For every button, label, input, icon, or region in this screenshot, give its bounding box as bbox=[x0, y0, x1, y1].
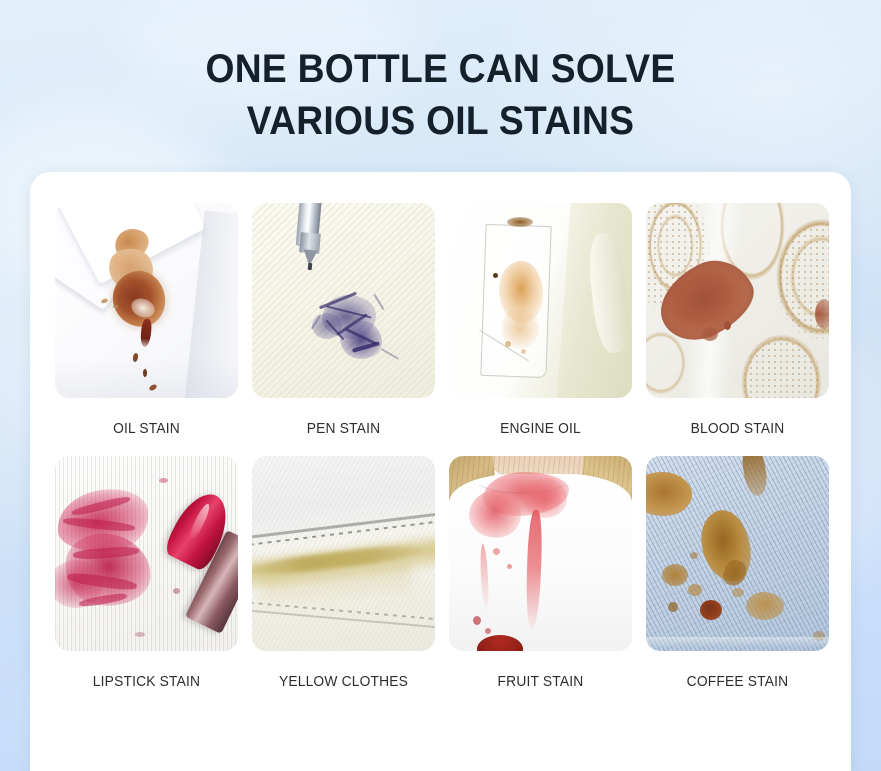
stain-image-blood-stain bbox=[646, 203, 829, 398]
stain-label: PEN STAIN bbox=[259, 420, 427, 437]
stain-tile-oil-stain[interactable]: OIL STAIN bbox=[55, 203, 238, 437]
stain-label: BLOOD STAIN bbox=[653, 420, 821, 437]
stain-tile-coffee-stain[interactable]: COFFEE STAIN bbox=[646, 456, 829, 690]
stain-gallery-grid: OIL STAIN PEN STAIN bbox=[55, 203, 830, 690]
stain-image-oil-stain bbox=[55, 203, 238, 398]
stain-image-lipstick-stain bbox=[55, 456, 238, 651]
stain-tile-blood-stain[interactable]: BLOOD STAIN bbox=[646, 203, 829, 437]
stain-label: FRUIT STAIN bbox=[456, 673, 624, 690]
stain-image-fruit-stain bbox=[449, 456, 632, 651]
stain-label: YELLOW CLOTHES bbox=[259, 673, 427, 690]
stain-image-coffee-stain bbox=[646, 456, 829, 651]
page-title: ONE BOTTLE CAN SOLVE VARIOUS OIL STAINS bbox=[31, 43, 850, 147]
stain-label: COFFEE STAIN bbox=[653, 673, 821, 690]
stain-label: LIPSTICK STAIN bbox=[62, 673, 230, 690]
stain-tile-yellow-clothes[interactable]: YELLOW CLOTHES bbox=[252, 456, 435, 690]
stain-label: ENGINE OIL bbox=[456, 420, 624, 437]
stain-image-engine-oil bbox=[449, 203, 632, 398]
stain-image-pen-stain bbox=[252, 203, 435, 398]
promo-banner: ONE BOTTLE CAN SOLVE VARIOUS OIL STAINS … bbox=[0, 0, 881, 771]
stain-tile-pen-stain[interactable]: PEN STAIN bbox=[252, 203, 435, 437]
stain-tile-fruit-stain[interactable]: FRUIT STAIN bbox=[449, 456, 632, 690]
stain-label: OIL STAIN bbox=[62, 420, 230, 437]
stain-tile-engine-oil[interactable]: ENGINE OIL bbox=[449, 203, 632, 437]
stain-image-yellow-clothes bbox=[252, 456, 435, 651]
stain-gallery-card: OIL STAIN PEN STAIN bbox=[30, 172, 851, 771]
stain-tile-lipstick-stain[interactable]: LIPSTICK STAIN bbox=[55, 456, 238, 690]
